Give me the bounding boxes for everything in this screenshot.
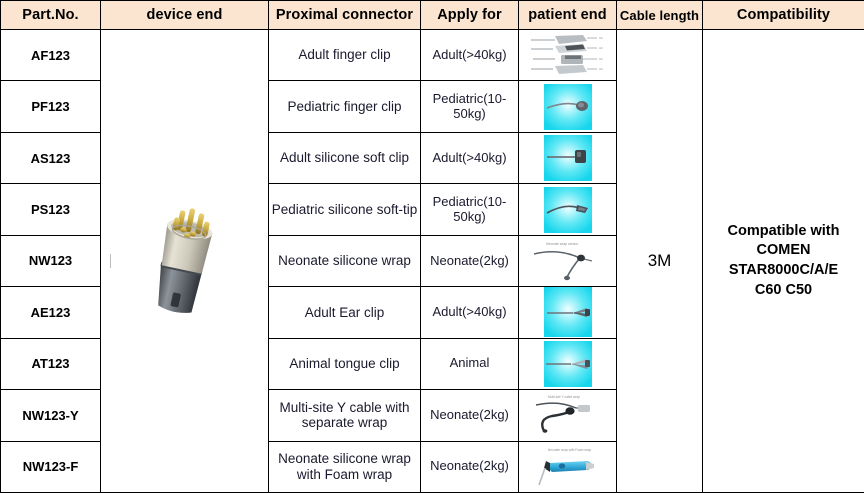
cell-part-no: AS123 bbox=[1, 132, 101, 183]
cell-apply-for: Adult(>40kg) bbox=[421, 287, 519, 338]
cell-part-no: NW123-Y bbox=[1, 390, 101, 441]
cell-patient-end bbox=[519, 81, 617, 132]
cell-apply-for: Neonate(2kg) bbox=[421, 390, 519, 441]
pediatric-finger-clip-icon bbox=[519, 82, 616, 132]
column-header-apply-for: Apply for bbox=[421, 1, 519, 30]
column-header-patient-end: patient end bbox=[519, 1, 617, 30]
cell-apply-for: Neonate(2kg) bbox=[421, 235, 519, 286]
compatibility-line-1: Compatible with bbox=[703, 222, 864, 242]
cell-patient-end: Multi-site Y cable wrap bbox=[519, 390, 617, 441]
product-spec-table: Part.No. device end Proximal connector A… bbox=[0, 0, 864, 493]
cell-proximal-connector: Adult Ear clip bbox=[269, 287, 421, 338]
cell-patient-end bbox=[519, 184, 617, 235]
cell-part-no: PS123 bbox=[1, 184, 101, 235]
cell-part-no: AF123 bbox=[1, 30, 101, 81]
cell-apply-for: Adult(>40kg) bbox=[421, 30, 519, 81]
cell-proximal-connector: Adult finger clip bbox=[269, 30, 421, 81]
cell-part-no: AE123 bbox=[1, 287, 101, 338]
cell-patient-end bbox=[519, 287, 617, 338]
animal-tongue-clip-icon bbox=[519, 339, 616, 389]
cell-patient-end bbox=[519, 132, 617, 183]
adult-silicone-soft-clip-icon bbox=[519, 133, 616, 183]
cell-apply-for: Neonate(2kg) bbox=[421, 441, 519, 493]
round-multipin-connector-icon bbox=[146, 206, 224, 316]
cell-apply-for: Pediatric(10-50kg) bbox=[421, 184, 519, 235]
svg-text:AF: AF bbox=[599, 36, 603, 40]
neonate-foam-wrap-icon: Neonate wrap with Foam wrap bbox=[519, 442, 616, 492]
cell-apply-for: Animal bbox=[421, 338, 519, 389]
cell-proximal-connector: Neonate silicone wrap with Foam wrap bbox=[269, 441, 421, 493]
column-header-proximal-connector: Proximal connector bbox=[269, 1, 421, 30]
header-row: Part.No. device end Proximal connector A… bbox=[1, 1, 864, 30]
cell-compatibility: Compatible with COMEN STAR8000C/A/E C60 … bbox=[703, 30, 864, 493]
svg-text:Neonate wrap sensor: Neonate wrap sensor bbox=[546, 242, 579, 246]
table-body: AF123 bbox=[1, 30, 864, 493]
cell-proximal-connector: Animal tongue clip bbox=[269, 338, 421, 389]
cell-apply-for: Pediatric(10-50kg) bbox=[421, 81, 519, 132]
pediatric-silicone-soft-tip-icon bbox=[519, 185, 616, 235]
cell-patient-end: AFAF AFAF bbox=[519, 30, 617, 81]
cell-proximal-connector: Adult silicone soft clip bbox=[269, 132, 421, 183]
cell-proximal-connector: Neonate silicone wrap bbox=[269, 235, 421, 286]
column-header-cable-length: Cable length bbox=[617, 1, 703, 30]
compatibility-line-4: C60 C50 bbox=[703, 281, 864, 301]
adult-ear-clip-icon bbox=[519, 287, 616, 337]
four-stacked-finger-clips-icon: AFAF AFAF bbox=[519, 30, 616, 80]
svg-text:AF: AF bbox=[599, 57, 603, 61]
column-header-device-end: device end bbox=[101, 1, 269, 30]
compatibility-line-2: COMEN bbox=[703, 241, 864, 261]
column-header-part-no: Part.No. bbox=[1, 1, 101, 30]
svg-text:AF: AF bbox=[599, 46, 603, 50]
svg-text:Neonate wrap with Foam wrap: Neonate wrap with Foam wrap bbox=[548, 448, 591, 452]
cell-proximal-connector: Pediatric finger clip bbox=[269, 81, 421, 132]
cell-proximal-connector: Multi-site Y cable with separate wrap bbox=[269, 390, 421, 441]
cell-part-no: AT123 bbox=[1, 338, 101, 389]
multi-site-y-cable-icon: Multi-site Y cable wrap bbox=[519, 390, 616, 440]
svg-text:Multi-site Y cable wrap: Multi-site Y cable wrap bbox=[548, 395, 580, 399]
compatibility-line-3: STAR8000C/A/E bbox=[703, 261, 864, 281]
svg-text:AF: AF bbox=[599, 67, 603, 71]
cell-part-no: NW123 bbox=[1, 235, 101, 286]
cell-apply-for: Adult(>40kg) bbox=[421, 132, 519, 183]
cell-proximal-connector: Pediatric silicone soft-tip bbox=[269, 184, 421, 235]
cell-device-end bbox=[101, 30, 269, 493]
table-row: AF123 bbox=[1, 30, 864, 81]
cell-patient-end: Neonate wrap with Foam wrap bbox=[519, 441, 617, 493]
cell-part-no: NW123-F bbox=[1, 441, 101, 493]
column-header-compatibility: Compatibility bbox=[703, 1, 864, 30]
neonate-silicone-wrap-icon: Neonate wrap sensor bbox=[519, 236, 616, 286]
cell-patient-end bbox=[519, 338, 617, 389]
table-header: Part.No. device end Proximal connector A… bbox=[1, 1, 864, 30]
cell-patient-end: Neonate wrap sensor bbox=[519, 235, 617, 286]
cell-cable-length: 3M bbox=[617, 30, 703, 493]
cell-part-no: PF123 bbox=[1, 81, 101, 132]
cell-seam-mark bbox=[110, 254, 111, 268]
